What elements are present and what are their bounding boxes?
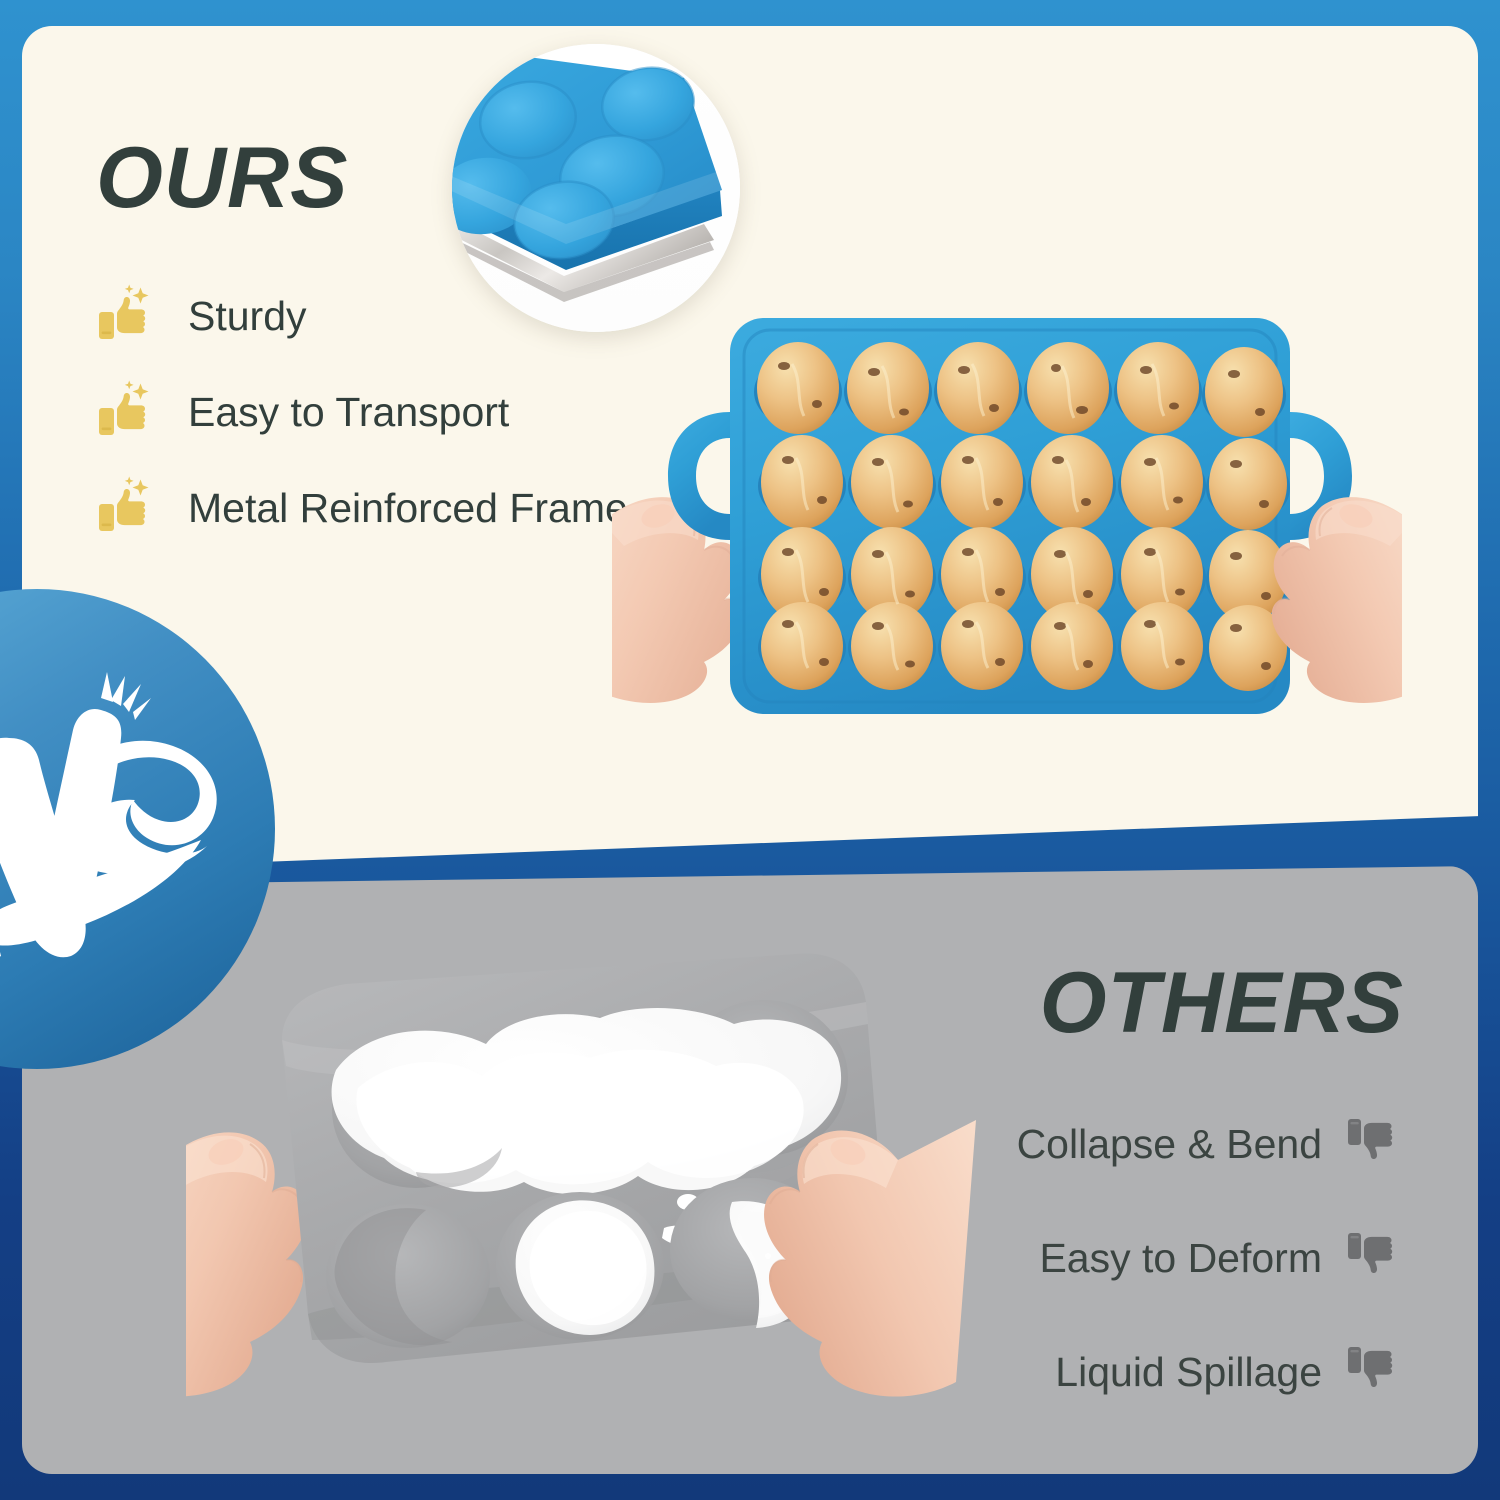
list-item-label: Easy to Transport [188,389,509,436]
list-item-label: Easy to Deform [1039,1235,1322,1282]
left-hand-gray [186,1132,308,1396]
list-item: Easy to Transport [96,374,628,450]
vs-badge [0,588,280,1070]
list-item: Metal Reinforced Frame [96,470,628,546]
gray-deformed-mold-image [186,920,976,1465]
list-item-label: Metal Reinforced Frame [188,485,628,532]
blue-muffin-tray-image [612,300,1402,875]
thumbs-down-icon [1346,1115,1404,1173]
list-item-label: Collapse & Bend [1017,1121,1322,1168]
thumbs-up-sparkle-icon [96,283,162,349]
thumbs-up-sparkle-icon [96,475,162,541]
silicone-pan [668,318,1352,714]
list-item: Easy to Deform [1017,1224,1404,1292]
list-item-label: Liquid Spillage [1055,1349,1322,1396]
list-item-label: Sturdy [188,293,307,340]
others-heading: OTHERS [1040,960,1404,1046]
list-item: Liquid Spillage [1017,1338,1404,1406]
list-item: Collapse & Bend [1017,1110,1404,1178]
silicone-mold-closeup-inset [452,44,740,332]
thumbs-up-sparkle-icon [96,379,162,445]
ours-heading: OURS [96,135,348,221]
others-feature-list: Collapse & Bend Easy to Deform [1017,1110,1404,1452]
thumbs-down-icon [1346,1343,1404,1401]
infographic-canvas: OURS Sturdy [0,0,1500,1500]
thumbs-down-icon [1346,1229,1404,1287]
